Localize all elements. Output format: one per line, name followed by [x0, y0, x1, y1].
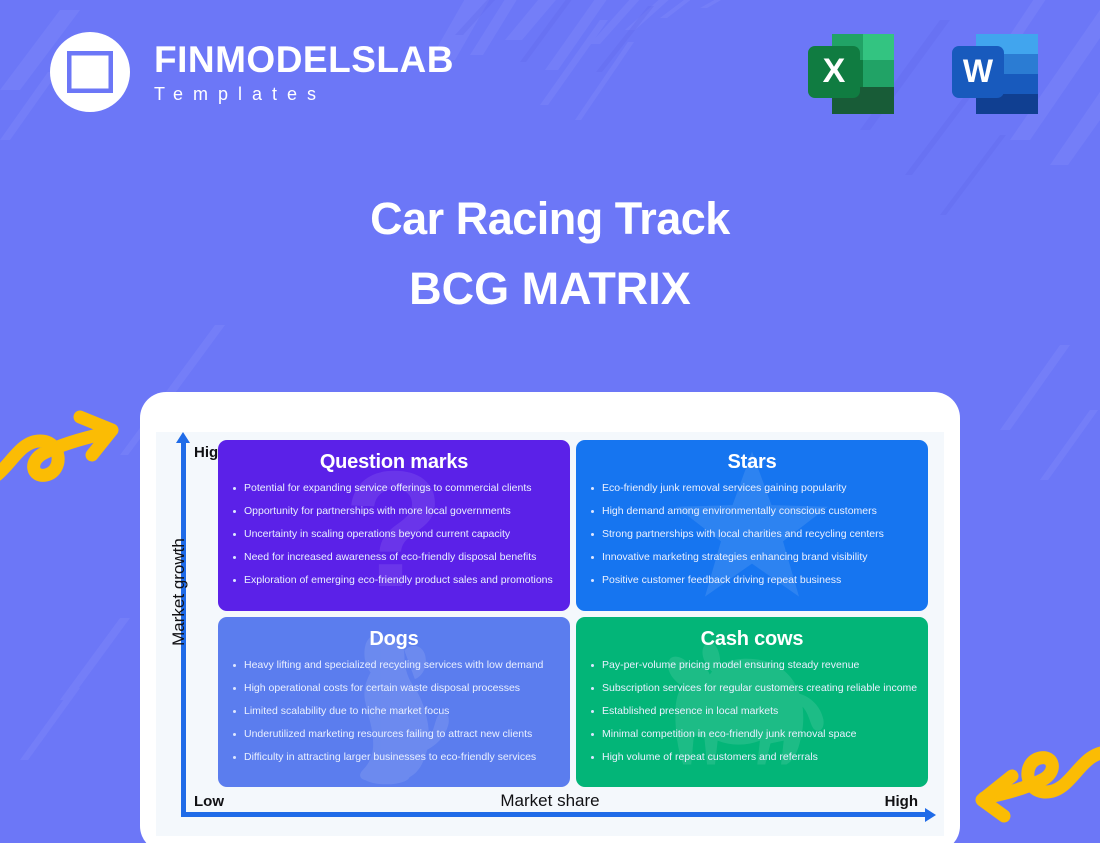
list-item: Subscription services for regular custom…	[588, 682, 916, 695]
quadrant-item-list: Potential for expanding service offering…	[230, 482, 558, 587]
x-axis-line	[181, 812, 929, 817]
y-axis-arrowhead	[176, 432, 190, 443]
squiggle-arrow-down-left-icon	[968, 730, 1100, 825]
list-item: Innovative marketing strategies enhancin…	[588, 551, 916, 564]
list-item: Heavy lifting and specialized recycling …	[230, 659, 558, 672]
slide-header: FINMODELSLAB Templates X	[0, 0, 1100, 150]
list-item: Uncertainty in scaling operations beyond…	[230, 528, 558, 541]
quadrant-stars[interactable]: Stars Eco-friendly junk removal services…	[576, 440, 928, 611]
list-item: High demand among environmentally consci…	[588, 505, 916, 518]
matrix-panel: High Low High Market growth Market share…	[156, 432, 944, 836]
list-item: Exploration of emerging eco-friendly pro…	[230, 574, 558, 587]
quadrant-item-list: Eco-friendly junk removal services gaini…	[588, 482, 916, 587]
office-app-icons: X W	[804, 28, 1048, 120]
list-item: High operational costs for certain waste…	[230, 682, 558, 695]
logo-name: FINMODELSLAB	[154, 41, 454, 80]
quadrant-title: Stars	[588, 451, 916, 474]
list-item: Potential for expanding service offering…	[230, 482, 558, 495]
list-item: Underutilized marketing resources failin…	[230, 728, 558, 741]
quadrant-title: Question marks	[230, 451, 558, 474]
list-item: Eco-friendly junk removal services gaini…	[588, 482, 916, 495]
quadrant-question-marks[interactable]: ? Question marks Potential for expanding…	[218, 440, 570, 611]
svg-text:W: W	[963, 53, 994, 89]
list-item: High volume of repeat customers and refe…	[588, 751, 916, 764]
squiggle-arrow-up-right-icon	[0, 405, 128, 500]
x-axis-title: Market share	[156, 791, 944, 811]
list-item: Positive customer feedback driving repea…	[588, 574, 916, 587]
list-item: Difficulty in attracting larger business…	[230, 751, 558, 764]
logo-subtitle: Templates	[154, 85, 454, 103]
quadrant-dogs[interactable]: Dogs Heavy lifting and specialized recyc…	[218, 617, 570, 788]
word-icon: W	[948, 28, 1048, 120]
list-item: Pay-per-volume pricing model ensuring st…	[588, 659, 916, 672]
matrix-grid: ? Question marks Potential for expanding…	[218, 440, 928, 787]
brand-logo: FINMODELSLAB Templates	[50, 32, 454, 112]
logo-badge	[50, 32, 130, 112]
list-item: Need for increased awareness of eco-frie…	[230, 551, 558, 564]
quadrant-item-list: Heavy lifting and specialized recycling …	[230, 659, 558, 764]
matrix-card: High Low High Market growth Market share…	[140, 392, 960, 843]
list-item: Established presence in local markets	[588, 705, 916, 718]
page-subtitle: BCG MATRIX	[0, 260, 1100, 318]
logo-text: FINMODELSLAB Templates	[154, 41, 454, 103]
quadrant-cash-cows[interactable]: Cash cows Pay-per-volume pricing model e…	[576, 617, 928, 788]
grid-2x2-icon	[67, 51, 113, 93]
excel-icon: X	[804, 28, 904, 120]
page-title: Car Racing Track	[0, 190, 1100, 248]
list-item: Limited scalability due to niche market …	[230, 705, 558, 718]
quadrant-title: Dogs	[230, 628, 558, 651]
y-axis-title: Market growth	[169, 522, 189, 662]
list-item: Strong partnerships with local charities…	[588, 528, 916, 541]
list-item: Minimal competition in eco-friendly junk…	[588, 728, 916, 741]
list-item: Opportunity for partnerships with more l…	[230, 505, 558, 518]
title-block: Car Racing Track BCG MATRIX	[0, 190, 1100, 317]
presentation-slide: FINMODELSLAB Templates X	[0, 0, 1100, 843]
quadrant-item-list: Pay-per-volume pricing model ensuring st…	[588, 659, 916, 764]
svg-text:X: X	[823, 52, 846, 90]
quadrant-title: Cash cows	[588, 628, 916, 651]
